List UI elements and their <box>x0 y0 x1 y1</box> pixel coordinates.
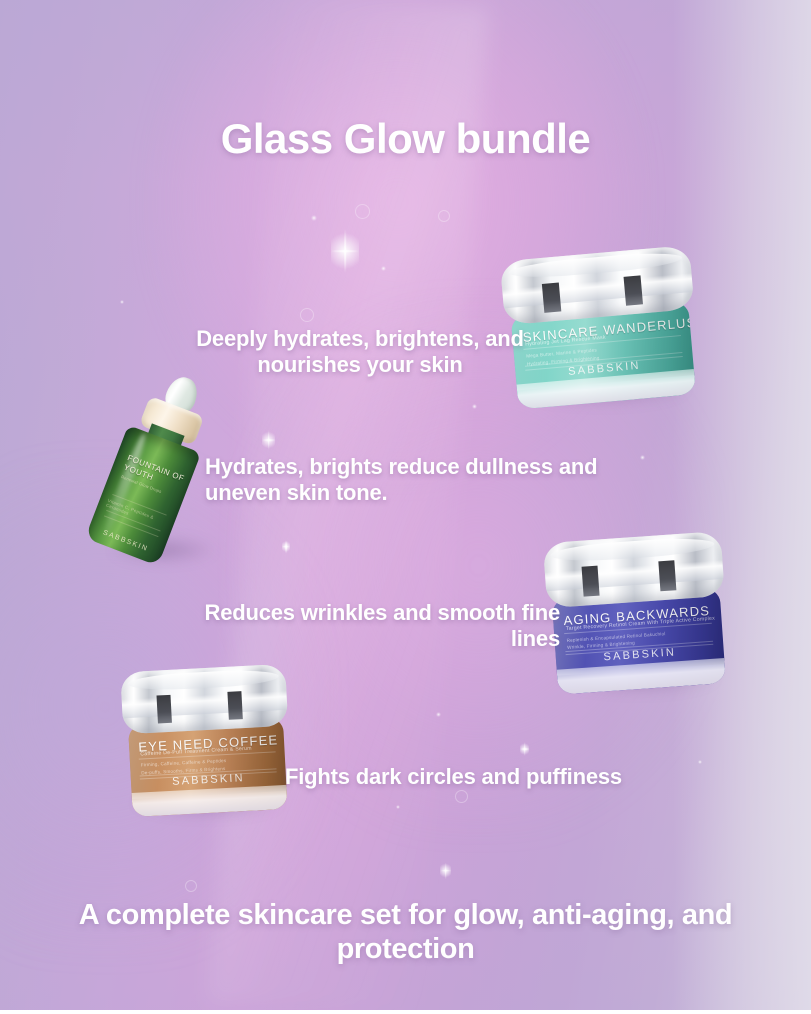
product-eye-jar[interactable]: EYE NEED COFFEE Caffeine De-Puff Treatme… <box>120 664 293 820</box>
lid-rim <box>127 668 279 692</box>
page-tagline: A complete skincare set for glow, anti-a… <box>60 898 751 966</box>
benefit-dullness-tone: Hydrates, brights reduce dullness and un… <box>205 454 625 505</box>
lid-reflection <box>156 695 172 724</box>
lid-band <box>545 560 724 592</box>
jar-shape: AGING BACKWARDS Target Recovery Retinol … <box>543 531 731 698</box>
benefit-dark-circles: Fights dark circles and puffiness <box>285 764 685 790</box>
benefit-hydrate-brighten: Deeply hydrates, brightens, and nourishe… <box>160 326 560 377</box>
lid-reflection <box>227 691 243 720</box>
lid-band <box>122 691 288 718</box>
lid-reflection <box>658 560 676 591</box>
benefit-wrinkles: Reduces wrinkles and smooth fine lines <box>180 600 560 651</box>
jar-lid <box>543 531 725 608</box>
jar-lid <box>120 664 288 735</box>
page-title: Glass Glow bundle <box>0 115 811 163</box>
lid-reflection <box>542 282 562 313</box>
product-cream-jar[interactable]: AGING BACKWARDS Target Recovery Retinol … <box>543 531 731 698</box>
lid-band <box>502 273 693 309</box>
lid-reflection <box>623 275 643 306</box>
jar-shape: EYE NEED COFFEE Caffeine De-Puff Treatme… <box>120 664 293 820</box>
lid-reflection <box>582 566 600 597</box>
skincare-bundle-poster: Glass Glow bundle SKINCARE WANDERLUST Hy… <box>0 0 811 1014</box>
